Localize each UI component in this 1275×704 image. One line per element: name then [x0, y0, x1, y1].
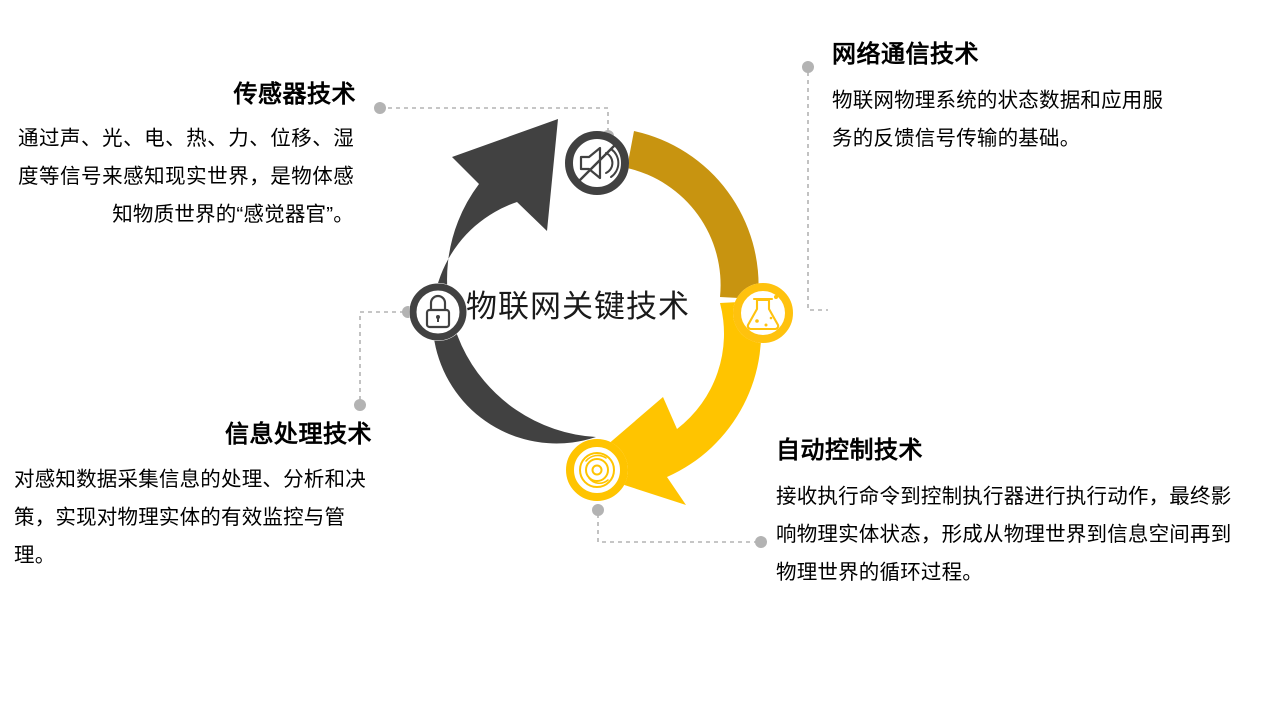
block-sensor: 传感器技术 通过声、光、电、热、力、位移、湿度等信号来感知现实世界，是物体感知物… [18, 80, 370, 234]
disc-icon[interactable] [566, 439, 628, 501]
speaker-sensor-icon[interactable] [565, 131, 629, 195]
connector-control [592, 504, 767, 548]
block-network-heading: 网络通信技术 [832, 40, 1192, 70]
block-control-heading: 自动控制技术 [776, 436, 1246, 466]
gold-arc-segment [627, 131, 759, 299]
block-info-body: 对感知数据采集信息的处理、分析和决策，实现对物理实体的有效监控与管理。 [14, 461, 366, 575]
infographic-canvas: 物联网关键技术 传感器技术 通过声、光、电、热、力、位移、湿度等信号来感知现实世… [0, 0, 1275, 704]
block-network-body: 物联网物理系统的状态数据和应用服务的反馈信号传输的基础。 [832, 82, 1172, 158]
block-sensor-heading: 传感器技术 [18, 80, 370, 110]
connector-info [354, 306, 414, 411]
block-sensor-body: 通过声、光、电、热、力、位移、湿度等信号来感知现实世界，是物体感知物质世界的“感… [18, 120, 354, 234]
connector-sensor [374, 102, 614, 142]
connector-network [802, 61, 828, 310]
lock-icon[interactable] [409, 283, 467, 341]
block-info: 信息处理技术 对感知数据采集信息的处理、分析和决策，实现对物理实体的有效监控与管… [14, 420, 378, 575]
flask-icon[interactable] [733, 283, 793, 343]
center-title: 物联网关键技术 [466, 290, 690, 324]
block-info-heading: 信息处理技术 [14, 420, 378, 450]
block-control: 自动控制技术 接收执行命令到控制执行器进行执行动作，最终影响物理实体状态，形成从… [776, 436, 1246, 592]
block-network: 网络通信技术 物联网物理系统的状态数据和应用服务的反馈信号传输的基础。 [832, 40, 1192, 158]
block-control-body: 接收执行命令到控制执行器进行执行动作，最终影响物理实体状态，形成从物理世界到信息… [776, 478, 1236, 592]
